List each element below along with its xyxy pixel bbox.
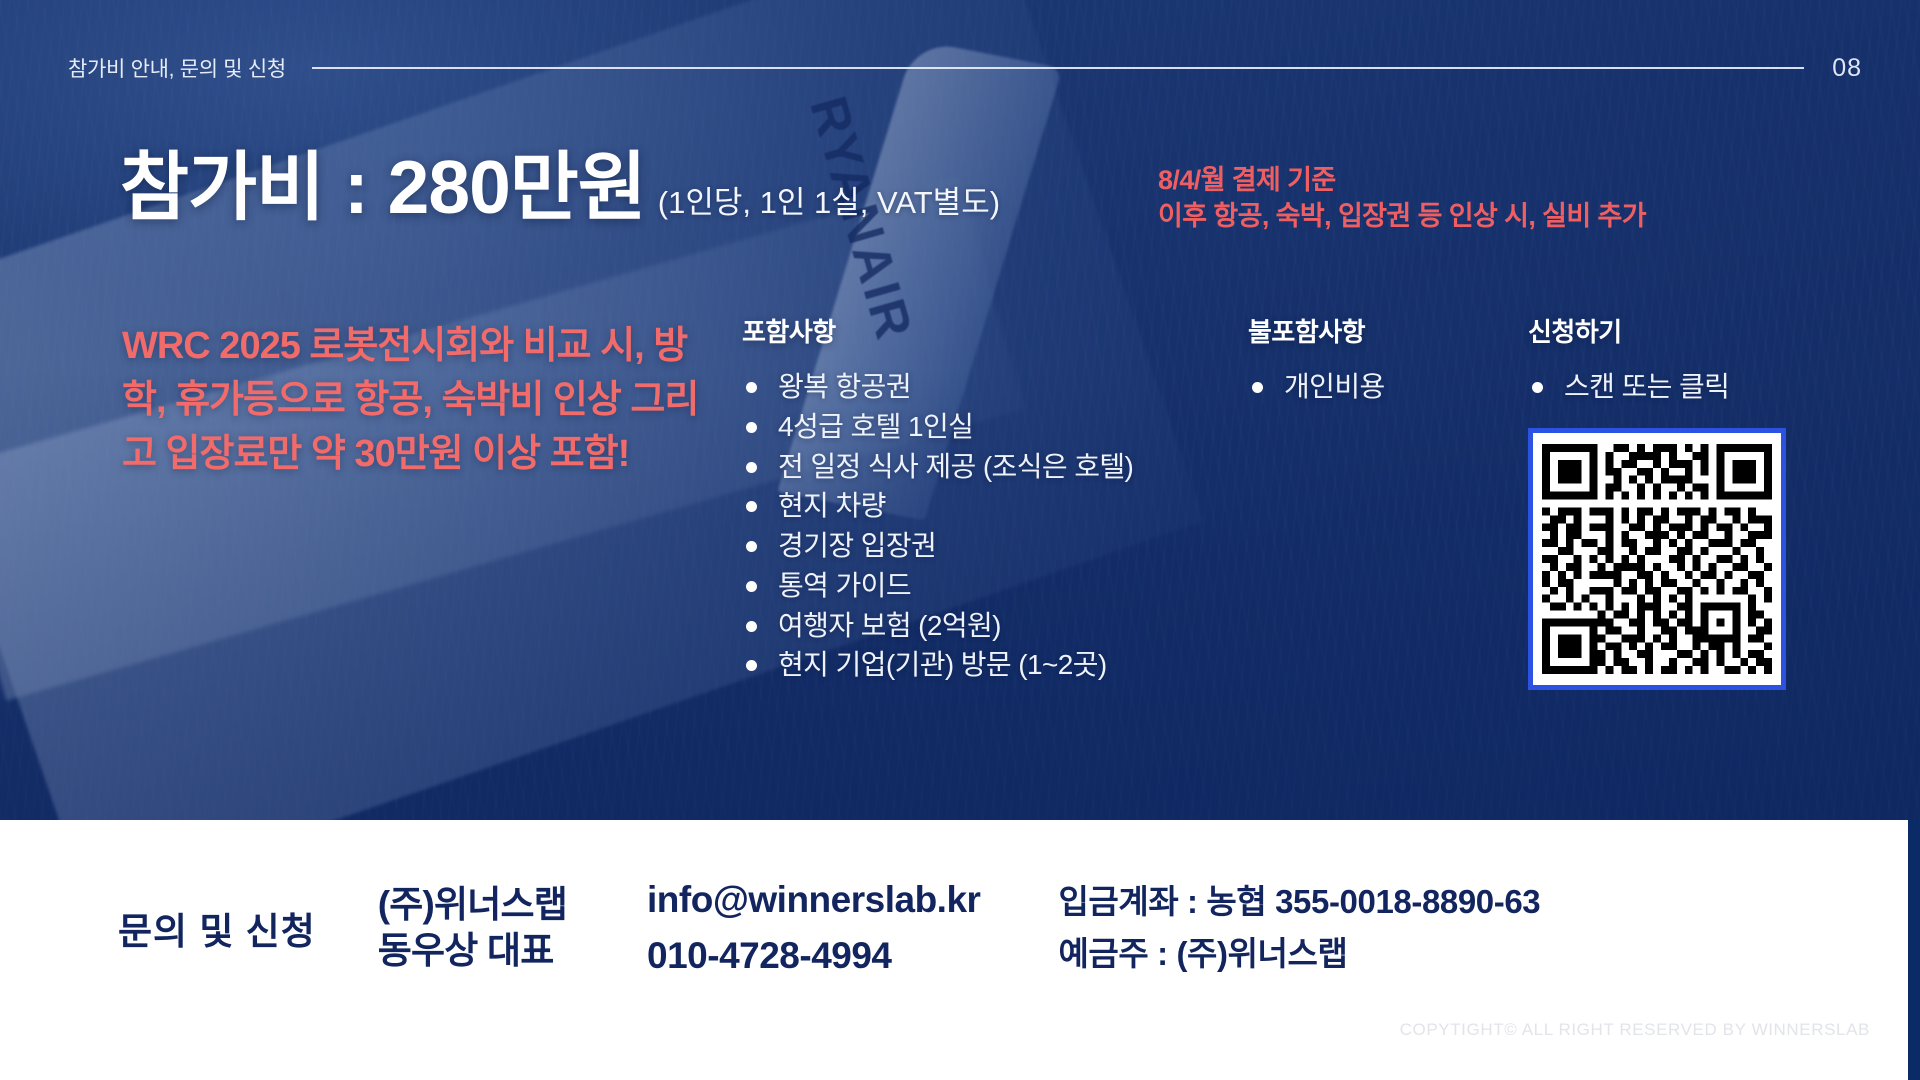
list-item-label: 현지 기업(기관) 방문 (1~2곳) xyxy=(778,649,1107,680)
email-link[interactable]: info@winnerslab.kr xyxy=(647,872,980,928)
price-amount: 참가비 : 280만원 xyxy=(120,150,646,225)
slide-footer: 문의 및 신청 (주)위너스랩 동우상 대표 info@winnerslab.k… xyxy=(0,820,1920,1080)
list-item: 개인비용 xyxy=(1248,367,1385,407)
slide: RYANAIR 참가비 안내, 문의 및 신청 08 참가비 : 280만원 (… xyxy=(0,0,1920,1080)
list-item-label: 4성급 호텔 1인실 xyxy=(778,411,973,442)
apply-title: 신청하기 xyxy=(1528,312,1729,349)
included-list: 왕복 항공권 4성급 호텔 1인실 전 일정 식사 제공 (조식은 호텔) 현지… xyxy=(742,367,1133,685)
comparison-note: WRC 2025 로봇전시회와 비교 시, 방학, 휴가등으로 항공, 숙박비 … xyxy=(122,320,702,482)
bullet-icon xyxy=(746,501,757,512)
apply-column: 신청하기 스캔 또는 클릭 xyxy=(1528,312,1729,407)
excluded-title: 불포함사항 xyxy=(1248,312,1385,349)
copyright-text: COPYTIGHT© ALL RIGHT RESERVED BY WINNERS… xyxy=(1400,1020,1870,1040)
company-name: (주)위너스랩 xyxy=(378,882,567,929)
list-item: 통역 가이드 xyxy=(742,566,1133,606)
apply-list: 스캔 또는 클릭 xyxy=(1528,367,1729,407)
list-item: 현지 기업(기관) 방문 (1~2곳) xyxy=(742,645,1133,685)
bank-block: 입금계좌 : 농협 355-0018-8890-63 예금주 : (주)위너스랩 xyxy=(1058,876,1540,980)
page-number: 08 xyxy=(1832,54,1862,83)
price-note: (1인당, 1인 1실, VAT별도) xyxy=(658,177,1000,222)
excluded-column: 불포함사항 개인비용 xyxy=(1248,312,1385,407)
excluded-list: 개인비용 xyxy=(1248,367,1385,407)
list-item: 4성급 호텔 1인실 xyxy=(742,407,1133,447)
company-representative: 동우상 대표 xyxy=(378,928,567,975)
contact-block: info@winnerslab.kr 010-4728-4994 xyxy=(647,872,980,984)
list-item: 현지 차량 xyxy=(742,486,1133,526)
contact-row: 문의 및 신청 (주)위너스랩 동우상 대표 info@winnerslab.k… xyxy=(0,872,1900,984)
caution-line-2: 이후 항공, 숙박, 입장권 등 인상 시, 실비 추가 xyxy=(1158,198,1646,234)
page-title: 참가비 안내, 문의 및 신청 xyxy=(68,53,286,83)
list-item-label: 왕복 항공권 xyxy=(778,371,911,402)
qr-code-svg xyxy=(1542,442,1772,676)
bank-holder: 예금주 : (주)위너스랩 xyxy=(1058,928,1540,980)
list-item-label: 경기장 입장권 xyxy=(778,530,936,561)
payment-caution: 8/4/월 결제 기준 이후 항공, 숙박, 입장권 등 인상 시, 실비 추가 xyxy=(1158,162,1646,235)
bullet-icon xyxy=(746,660,757,671)
bullet-icon xyxy=(1252,382,1263,393)
bullet-icon xyxy=(746,422,757,433)
phone-number[interactable]: 010-4728-4994 xyxy=(647,928,980,984)
list-item-label: 현지 차량 xyxy=(778,490,886,521)
list-item: 왕복 항공권 xyxy=(742,367,1133,407)
list-item: 경기장 입장권 xyxy=(742,526,1133,566)
company-block: (주)위너스랩 동우상 대표 xyxy=(378,882,567,975)
bullet-icon xyxy=(746,382,757,393)
list-item: 여행자 보험 (2억원) xyxy=(742,606,1133,646)
footer-right-edge xyxy=(1908,820,1920,1080)
list-item-label: 여행자 보험 (2억원) xyxy=(778,610,1001,641)
included-column: 포함사항 왕복 항공권 4성급 호텔 1인실 전 일정 식사 제공 (조식은 호… xyxy=(742,312,1133,685)
list-item-label: 개인비용 xyxy=(1284,371,1385,402)
price-headline: 참가비 : 280만원 (1인당, 1인 1실, VAT별도) xyxy=(120,150,1000,225)
list-item-label: 스캔 또는 클릭 xyxy=(1564,371,1729,402)
qr-code-icon[interactable] xyxy=(1533,433,1781,685)
list-item: 전 일정 식사 제공 (조식은 호텔) xyxy=(742,447,1133,487)
header-divider xyxy=(312,67,1804,69)
bank-account: 입금계좌 : 농협 355-0018-8890-63 xyxy=(1058,876,1540,928)
bullet-icon xyxy=(746,541,757,552)
list-item-label: 전 일정 식사 제공 (조식은 호텔) xyxy=(778,451,1133,482)
contact-label: 문의 및 신청 xyxy=(118,901,316,955)
bullet-icon xyxy=(746,462,757,473)
bullet-icon xyxy=(1532,382,1543,393)
bullet-icon xyxy=(746,621,757,632)
list-item: 스캔 또는 클릭 xyxy=(1528,367,1729,407)
list-item-label: 통역 가이드 xyxy=(778,570,911,601)
bullet-icon xyxy=(746,581,757,592)
included-title: 포함사항 xyxy=(742,312,1133,349)
slide-header: 참가비 안내, 문의 및 신청 08 xyxy=(0,48,1920,88)
qr-code-link[interactable] xyxy=(1528,428,1786,690)
caution-line-1: 8/4/월 결제 기준 xyxy=(1158,162,1646,198)
